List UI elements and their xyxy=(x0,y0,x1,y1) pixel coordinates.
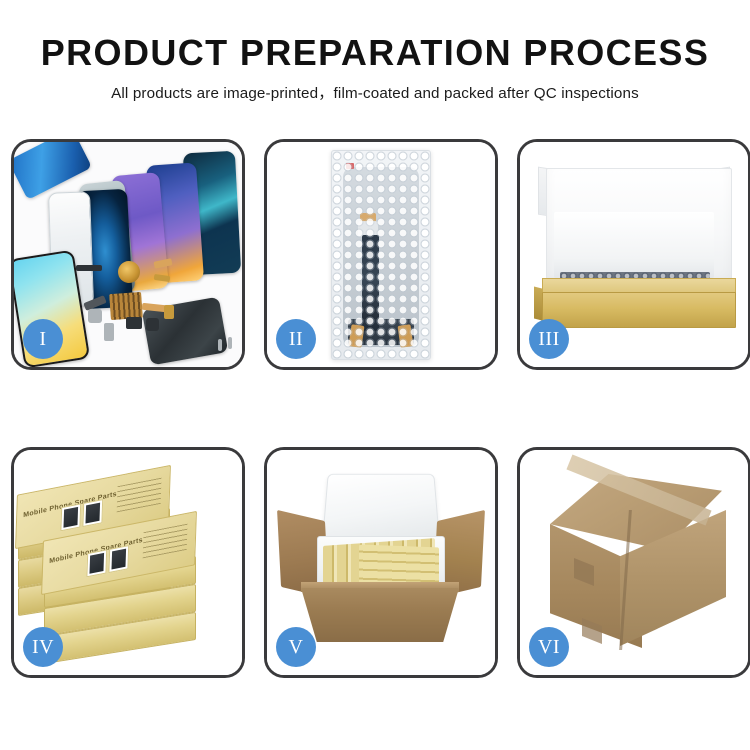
carton-body-icon xyxy=(301,588,459,642)
step-badge-3: III xyxy=(529,319,569,359)
foam-lid-icon xyxy=(322,474,440,542)
speaker-part-icon xyxy=(76,265,102,271)
screw-set-part-icon xyxy=(104,323,114,341)
process-step-panel-2: II xyxy=(264,139,498,370)
vibrator-part-icon xyxy=(126,317,142,329)
step-badge-1: I xyxy=(23,319,63,359)
step-badge-5: V xyxy=(276,627,316,667)
qc-sticker-icon xyxy=(346,163,354,169)
camera-module-part-icon xyxy=(88,309,102,323)
box-window-back-2 xyxy=(82,499,103,527)
page-subtitle: All products are image-printed，film-coat… xyxy=(0,81,750,103)
process-step-panel-6: VI xyxy=(517,447,750,678)
foam-liner-icon xyxy=(554,212,714,278)
page-header: PRODUCT PREPARATION PROCESS All products… xyxy=(0,0,750,103)
process-step-panel-3: III xyxy=(517,139,750,370)
step-badge-4: IV xyxy=(23,627,63,667)
box-window-back-1 xyxy=(60,503,81,531)
product-preparation-process-page: PRODUCT PREPARATION PROCESS All products… xyxy=(0,0,750,750)
step-badge-2: II xyxy=(276,319,316,359)
box-spec-lines-front xyxy=(143,524,188,559)
step-badge-6: VI xyxy=(529,627,569,667)
screen-flex-cable-icon xyxy=(362,235,379,331)
page-title: PRODUCT PREPARATION PROCESS xyxy=(0,34,750,72)
kraft-tray-front-icon xyxy=(542,292,736,328)
box-window-front-1 xyxy=(86,549,107,577)
taptic-part-icon xyxy=(146,318,159,331)
process-step-panel-1: I xyxy=(11,139,245,370)
process-step-panel-4: Mobile Phone Spare Parts Mobile Phone Sp… xyxy=(11,447,245,678)
chip-array-part-icon xyxy=(109,292,143,320)
box-window-front-2 xyxy=(108,545,129,573)
wireless-coil-part-icon xyxy=(118,261,140,283)
sealed-carton-icon xyxy=(536,470,736,660)
sim-tray-part-icon xyxy=(164,305,174,319)
box-spec-lines-back xyxy=(117,478,162,513)
process-step-panel-5: V xyxy=(264,447,498,678)
process-step-grid: I II xyxy=(11,139,739,678)
bubble-wrap-package-icon xyxy=(331,150,431,360)
tweezer-tip-icon xyxy=(218,339,222,351)
screwdriver-tip-icon xyxy=(228,337,232,349)
